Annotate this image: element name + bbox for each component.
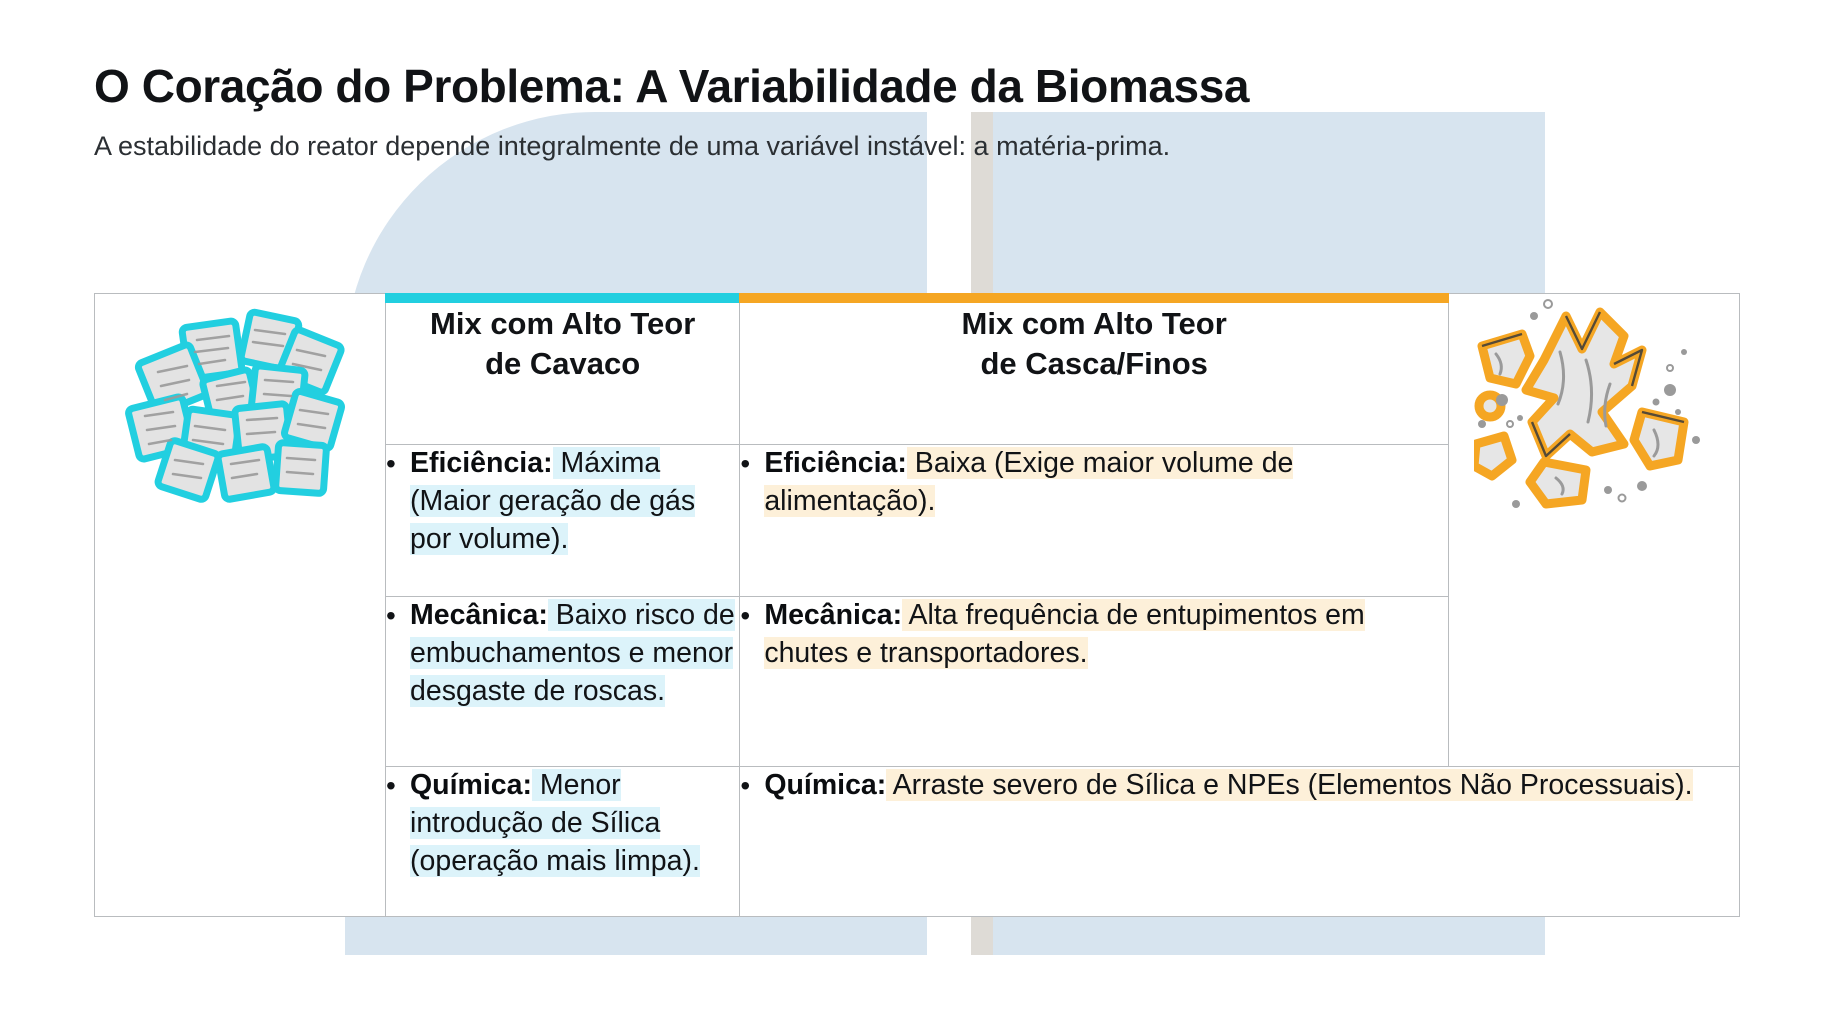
column-header-cavaco-line2: de Cavaco xyxy=(386,344,739,384)
bullet-icon: • xyxy=(386,445,410,482)
term-label: Química: xyxy=(764,769,886,801)
highlighted-text: Arraste severo de Sílica e NPEs (Element… xyxy=(886,769,1692,801)
cell-text-casca-mecanica: Mecânica: Alta frequência de entupimento… xyxy=(764,597,1448,673)
term-label: Eficiência: xyxy=(410,447,553,479)
bullet-icon: • xyxy=(386,767,410,804)
column-header-casca: Mix com Alto Teor de Casca/Finos xyxy=(740,294,1449,445)
cell-text-casca-eficiencia: Eficiência: Baixa (Exige maior volume de… xyxy=(764,445,1448,521)
cell-casca-mecanica: • Mecânica: Alta frequência de entupimen… xyxy=(740,597,1449,767)
cell-text-cavaco-quimica: Química: Menor introdução de Sílica (ope… xyxy=(410,767,739,881)
bullet-icon: • xyxy=(740,767,764,804)
cell-casca-eficiencia: • Eficiência: Baixa (Exige maior volume … xyxy=(740,445,1449,597)
bark-fines-illustration xyxy=(1474,294,1714,509)
cell-text-cavaco-eficiencia: Eficiência: Máxima (Maior geração de gás… xyxy=(410,445,739,559)
cell-text-cavaco-mecanica: Mecânica: Baixo risco de embuchamentos e… xyxy=(410,597,739,711)
wood-chips-illustration-cell xyxy=(95,294,386,917)
column-header-casca-line1: Mix com Alto Teor xyxy=(740,304,1448,344)
bark-fines-illustration-cell xyxy=(1449,294,1740,767)
cell-cavaco-mecanica: • Mecânica: Baixo risco de embuchamentos… xyxy=(386,597,740,767)
term-label: Mecânica: xyxy=(764,599,902,631)
column-header-casca-text: Mix com Alto Teor de Casca/Finos xyxy=(740,294,1448,383)
header: O Coração do Problema: A Variabilidade d… xyxy=(94,60,1249,162)
column-header-cavaco-line1: Mix com Alto Teor xyxy=(386,304,739,344)
accent-bar-amber xyxy=(739,293,1449,303)
page-title: O Coração do Problema: A Variabilidade d… xyxy=(94,60,1249,113)
cell-cavaco-eficiencia: • Eficiência: Máxima (Maior geração de g… xyxy=(386,445,740,597)
page-subtitle: A estabilidade do reator depende integra… xyxy=(94,130,1249,162)
column-header-casca-line2: de Casca/Finos xyxy=(740,344,1448,384)
table-header-row: Mix com Alto Teor de Cavaco Mix com Alto… xyxy=(95,294,1740,445)
accent-bar-cyan xyxy=(385,293,740,303)
biomass-comparison-table: Mix com Alto Teor de Cavaco Mix com Alto… xyxy=(94,293,1740,917)
bullet-icon: • xyxy=(740,597,764,634)
term-label: Eficiência: xyxy=(764,447,907,479)
bullet-icon: • xyxy=(740,445,764,482)
bullet-icon: • xyxy=(386,597,410,634)
column-header-cavaco-text: Mix com Alto Teor de Cavaco xyxy=(386,294,739,383)
wood-chips-illustration xyxy=(125,294,355,504)
cell-casca-quimica: • Química: Arraste severo de Sílica e NP… xyxy=(740,767,1740,917)
cell-text-casca-quimica: Química: Arraste severo de Sílica e NPEs… xyxy=(764,767,1739,805)
term-label: Mecânica: xyxy=(410,599,548,631)
term-label: Química: xyxy=(410,769,532,801)
cell-cavaco-quimica: • Química: Menor introdução de Sílica (o… xyxy=(386,767,740,917)
column-header-cavaco: Mix com Alto Teor de Cavaco xyxy=(386,294,740,445)
